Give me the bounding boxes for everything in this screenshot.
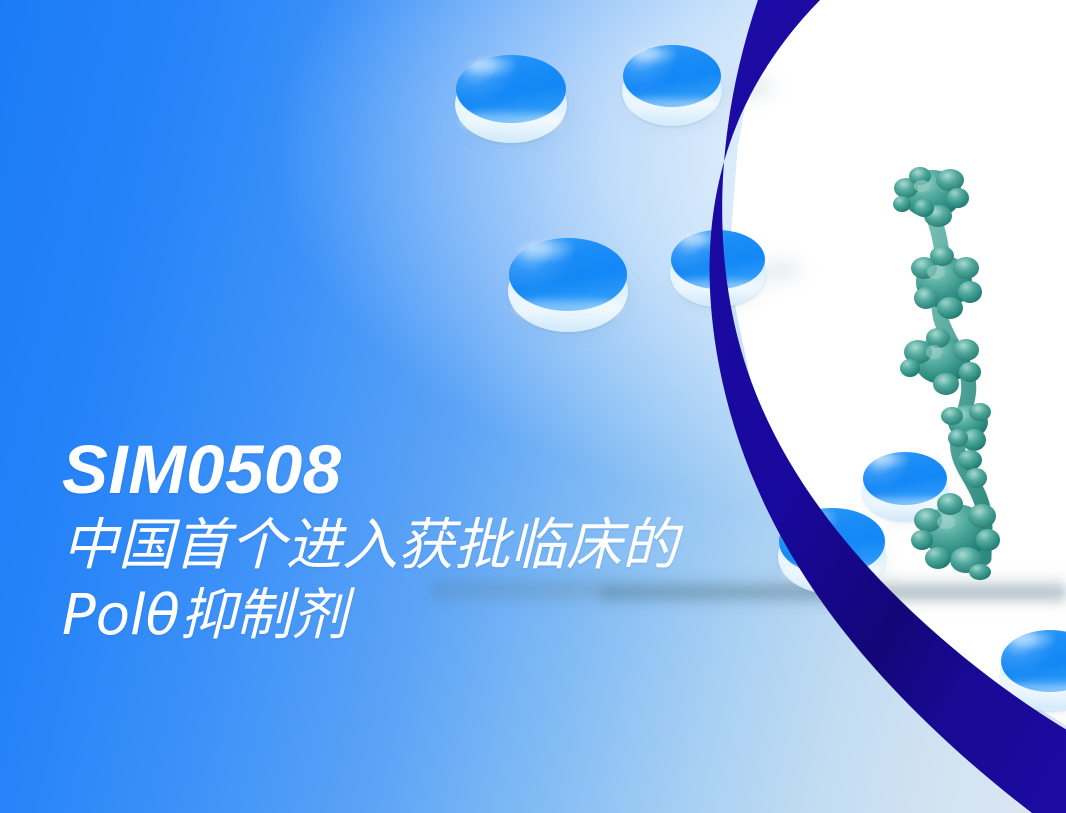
poster-canvas: SIM0508 中国首个进入获批临床的 Polθ抑制剂 — [0, 0, 1066, 813]
protein-ribbon-structure — [880, 160, 1050, 580]
protein-domain-2 — [911, 246, 982, 319]
disc-highlight — [462, 57, 531, 77]
disc-top-right — [622, 45, 722, 129]
protein-domain-1 — [893, 167, 969, 227]
protein-domain-5 — [911, 493, 1000, 580]
disc-side-highlight — [513, 295, 623, 324]
subtitle-line-2: Polθ抑制剂 — [62, 584, 842, 648]
disc-mid-right — [670, 230, 766, 310]
disc-mid-left — [508, 238, 628, 336]
disc-side-highlight — [626, 94, 718, 119]
disc-bottom-right — [1000, 630, 1066, 714]
disc-top-left — [455, 55, 567, 147]
subtitle-line-1: 中国首个进入获批临床的 — [62, 514, 842, 578]
disc-highlight — [628, 47, 690, 65]
shadow-top-far-right — [722, 70, 782, 104]
title-block: SIM0508 中国首个进入获批临床的 Polθ抑制剂 — [62, 432, 842, 648]
disc-highlight — [515, 240, 589, 262]
disc-highlight — [676, 232, 736, 250]
page-title: SIM0508 — [62, 432, 842, 508]
protein-domain-4 — [941, 403, 991, 488]
disc-highlight — [1006, 632, 1066, 650]
disc-side-highlight — [459, 108, 562, 136]
